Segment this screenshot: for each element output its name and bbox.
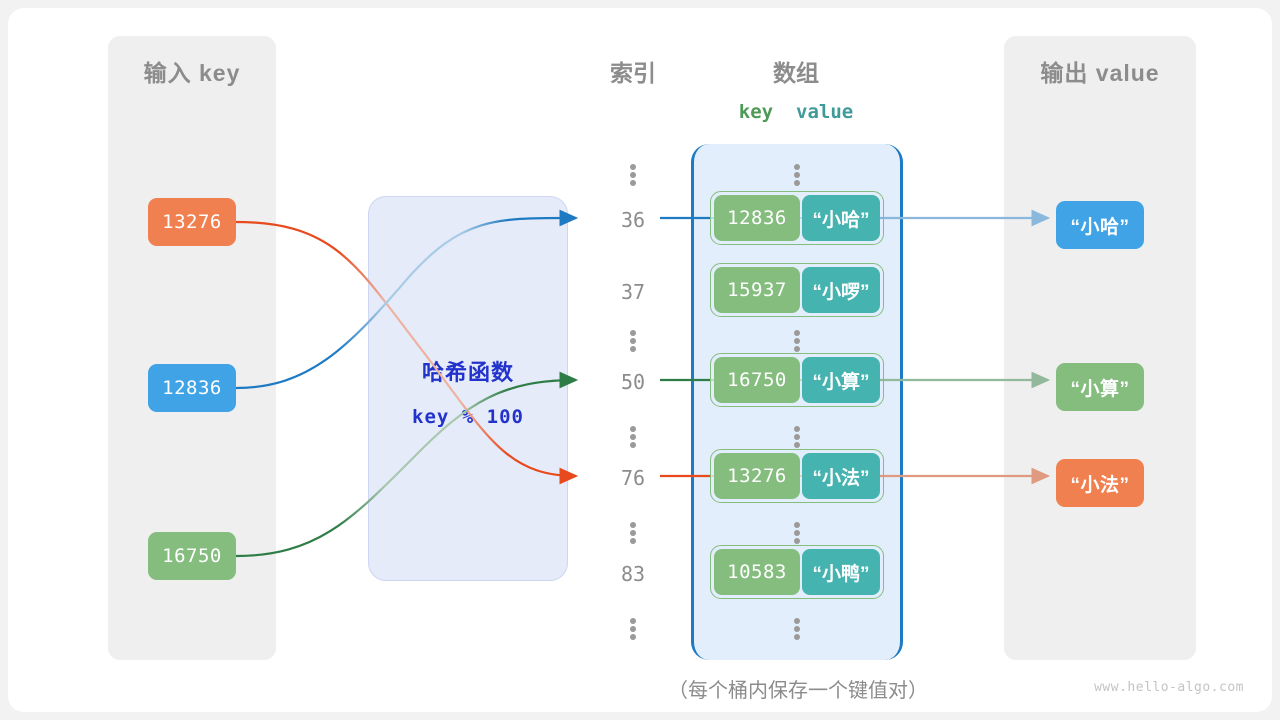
index-label-76: 76 — [604, 466, 662, 490]
hash-function-title: 哈希函数 — [369, 355, 567, 387]
array-ellipsis-4 — [794, 618, 800, 640]
output-value-chip-2[interactable]: “小法” — [1056, 459, 1144, 507]
bucket-36[interactable]: 12836 “小哈” — [710, 191, 884, 245]
diagram-card: 输入 key 输出 value 索引 数组 key value 哈希函数 key… — [8, 8, 1272, 712]
index-column-header: 索引 — [574, 54, 692, 88]
bucket-83-key: 10583 — [714, 549, 800, 595]
bucket-76-value: “小法” — [802, 453, 880, 499]
input-key-chip-1[interactable]: 12836 — [148, 364, 236, 412]
input-key-chip-2[interactable]: 16750 — [148, 532, 236, 580]
output-value-chip-0[interactable]: “小哈” — [1056, 201, 1144, 249]
bucket-76-key: 13276 — [714, 453, 800, 499]
bucket-50-value: “小算” — [802, 357, 880, 403]
key-subheader-label: key — [739, 101, 773, 123]
index-label-37: 37 — [604, 280, 662, 304]
bucket-50[interactable]: 16750 “小算” — [710, 353, 884, 407]
index-ellipsis-4 — [630, 618, 636, 640]
index-label-50: 50 — [604, 370, 662, 394]
output-value-chip-1[interactable]: “小算” — [1056, 363, 1144, 411]
index-ellipsis-3 — [630, 522, 636, 544]
array-ellipsis-0 — [794, 164, 800, 186]
bucket-50-key: 16750 — [714, 357, 800, 403]
bucket-37-key: 15937 — [714, 267, 800, 313]
output-value-panel: 输出 value — [1004, 36, 1196, 660]
index-ellipsis-2 — [630, 426, 636, 448]
value-subheader-label: value — [796, 101, 853, 123]
array-ellipsis-2 — [794, 426, 800, 448]
diagram-caption: （每个桶内保存一个键值对） — [608, 674, 988, 703]
input-key-chip-0[interactable]: 13276 — [148, 198, 236, 246]
array-column-header: 数组 — [698, 54, 894, 88]
bucket-36-value: “小哈” — [802, 195, 880, 241]
key-value-subheader: key value — [698, 101, 894, 123]
index-ellipsis-0 — [630, 164, 636, 186]
bucket-36-key: 12836 — [714, 195, 800, 241]
hash-function-expression: key % 100 — [369, 406, 567, 428]
watermark: www.hello-algo.com — [1094, 680, 1244, 695]
array-ellipsis-1 — [794, 330, 800, 352]
input-panel-title: 输入 key — [108, 54, 276, 88]
bucket-83-value: “小鸭” — [802, 549, 880, 595]
hash-function-box: 哈希函数 key % 100 — [368, 196, 568, 581]
bucket-37-value: “小啰” — [802, 267, 880, 313]
index-label-83: 83 — [604, 562, 662, 586]
bucket-37[interactable]: 15937 “小啰” — [710, 263, 884, 317]
index-label-36: 36 — [604, 208, 662, 232]
bucket-76[interactable]: 13276 “小法” — [710, 449, 884, 503]
array-ellipsis-3 — [794, 522, 800, 544]
index-ellipsis-1 — [630, 330, 636, 352]
output-panel-title: 输出 value — [1004, 54, 1196, 88]
bucket-83[interactable]: 10583 “小鸭” — [710, 545, 884, 599]
